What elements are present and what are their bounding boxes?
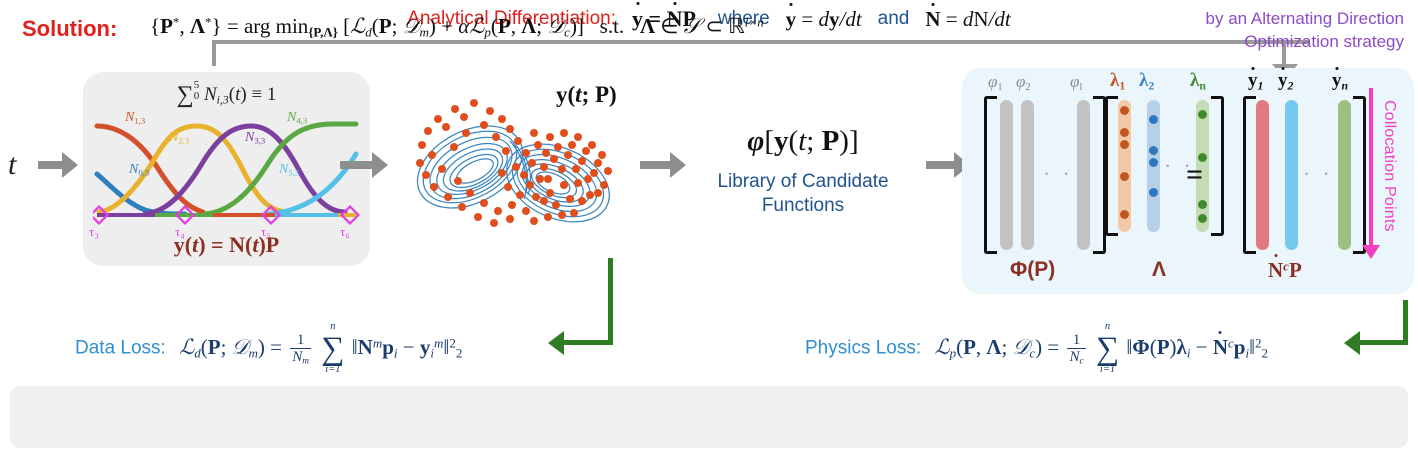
- matrix-equals-sign: =: [1186, 158, 1203, 192]
- data-loss-arrow-head: [548, 331, 564, 355]
- lambda-header-2: λ2: [1139, 70, 1154, 92]
- collocation-arrow-head: [1362, 245, 1380, 259]
- spline-model-equation: y(t) = N(t)P: [83, 232, 370, 258]
- solution-label: Solution:: [22, 16, 117, 42]
- attractor-label: y(t; P): [556, 82, 617, 108]
- lambda1-nonzero-dot: [1120, 172, 1129, 181]
- ydot-header-2: y2: [1278, 70, 1293, 92]
- phi-matrix-label: Φ(P): [1010, 258, 1055, 282]
- lambda-header-n: λn: [1190, 70, 1206, 92]
- ydot-column-1: [1256, 100, 1269, 250]
- ydot-bracket-right: [1353, 96, 1366, 254]
- curve-label-N43: N4,3: [287, 110, 307, 126]
- lambdan-nonzero-dot: [1198, 214, 1207, 223]
- solution-note-line1: by an Alternating Direction: [1206, 9, 1404, 28]
- phi-header-2: φ2: [1016, 72, 1031, 92]
- ndotcp-matrix-label: NcP: [1268, 258, 1302, 283]
- lambda1-nonzero-dot: [1120, 210, 1129, 219]
- arrow-attractor-to-library: [640, 152, 686, 178]
- solution-note: by an Alternating Direction Optimization…: [1178, 8, 1404, 54]
- solution-bar: [10, 386, 1408, 448]
- curve-label-N03: N0,3: [129, 162, 149, 178]
- data-loss-arrow-horizontal: [564, 340, 613, 345]
- lambda2-nonzero-dot: [1149, 188, 1158, 197]
- physics-loss-equation: Physics Loss: ℒp(P, Λ; 𝒟c) = 1Nc n∑i=1 ‖…: [805, 322, 1268, 376]
- data-loss-equation: Data Loss: ℒd(P; 𝒟m) = 1Nm n∑i=1 ‖Nmpi −…: [75, 322, 462, 376]
- ydot-header-n: yn: [1332, 70, 1348, 92]
- physics-loss-arrow-vertical: [1403, 300, 1408, 344]
- ydot-header-1: y1: [1248, 70, 1263, 92]
- partition-of-unity-equation: ∑50 Ni,3(t) ≡ 1: [83, 80, 370, 109]
- lambdan-nonzero-dot: [1198, 110, 1207, 119]
- library-caption: Library of Candidate Functions: [683, 170, 923, 218]
- library-caption-line2: Functions: [762, 195, 844, 216]
- ndot-definition: N = dN/dt: [925, 7, 1010, 32]
- phi-header-l: φl: [1070, 72, 1082, 92]
- lambda2-nonzero-dot: [1149, 158, 1158, 167]
- time-input-symbol: t: [8, 148, 16, 182]
- physics-loss-arrow-head: [1344, 331, 1360, 355]
- lambda1-nonzero-dot: [1120, 106, 1129, 115]
- library-equation: φ[y(t; P)]: [683, 125, 923, 158]
- curve-label-N23: N2,3: [169, 130, 189, 146]
- lambda1-nonzero-dot: [1120, 128, 1129, 137]
- collocation-points-label: Collocation Points: [1380, 100, 1398, 232]
- ydot-column-2: [1285, 100, 1298, 250]
- phi-column-1: [1000, 100, 1013, 250]
- lambda2-nonzero-dot: [1149, 115, 1158, 124]
- solution-note-line2: Optimization strategy: [1244, 32, 1404, 51]
- curve-label-N13: N1,3: [125, 110, 145, 126]
- ydot-bracket-left: [1243, 96, 1256, 254]
- data-loss-arrow-vertical: [608, 258, 613, 344]
- lambda-header-1: λ1: [1110, 70, 1125, 92]
- phi-bracket-left: [984, 96, 997, 254]
- lambda-bracket-left: [1105, 96, 1118, 236]
- physics-loss-arrow-horizontal: [1360, 340, 1408, 345]
- phi-column-2: [1021, 100, 1034, 250]
- and-word: and: [878, 8, 910, 30]
- ydot-column-n: [1338, 100, 1351, 250]
- phi-header-1: φ1: [988, 72, 1003, 92]
- lambda1-nonzero-dot: [1120, 140, 1129, 149]
- solution-equation: {P*, Λ*} = arg min{P,Λ} [ℒd(P; 𝒟m) + αℒp…: [150, 14, 764, 39]
- physics-loss-body: ℒp(P, Λ; 𝒟c) = 1Nc n∑i=1 ‖Φ(P)λi − Ncpi‖…: [934, 335, 1268, 359]
- curve-label-N33: N3,3: [245, 130, 265, 146]
- curve-label-N53: N5,3: [279, 162, 299, 178]
- lambda-matrix-label: Λ: [1152, 258, 1166, 282]
- collocation-points-arrow: [1369, 88, 1373, 248]
- arrow-spline-to-attractor: [340, 152, 388, 178]
- phi-column-l: [1077, 100, 1090, 250]
- lambdan-nonzero-dot: [1198, 200, 1207, 209]
- data-loss-label: Data Loss:: [75, 338, 166, 359]
- library-caption-line1: Library of Candidate: [717, 171, 888, 192]
- lambda-bracket-right: [1211, 96, 1224, 236]
- physics-loss-label: Physics Loss:: [805, 338, 921, 359]
- diagram-canvas: Analytical Differentiation: y = NP where…: [0, 0, 1418, 457]
- arrow-t-to-spline: [38, 152, 78, 178]
- bspline-basis-panel: ∑50 Ni,3(t) ≡ 1: [83, 72, 370, 266]
- lambda2-nonzero-dot: [1149, 146, 1158, 155]
- data-loss-body: ℒd(P; 𝒟m) = 1Nm n∑i=1 ‖Nmpi − yim‖22: [179, 335, 462, 359]
- ydot-definition: y = dy/dt: [786, 7, 862, 32]
